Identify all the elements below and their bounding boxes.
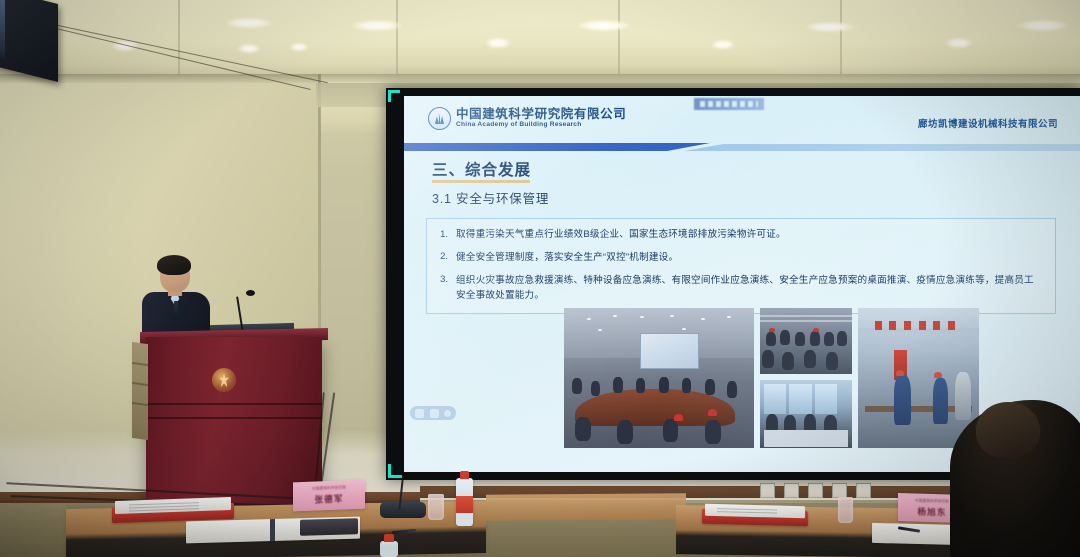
microphone-capsule-icon <box>246 290 255 296</box>
foreground-table-center <box>486 493 686 520</box>
slide-header-divider <box>404 143 1080 151</box>
microphone-base-left <box>380 502 426 518</box>
bullet-item: 1. 取得重污染天气重点行业绩效B级企业、国家生态环境部排放污染物许可证。 <box>435 228 1043 243</box>
ceiling-light <box>352 20 402 31</box>
bottle-label <box>456 496 473 512</box>
bullet-text: 组织火灾事故应急救援演练、特种设备应急演练、有限空间作业应急演练、安全生产应急预… <box>456 274 1043 304</box>
bullet-text: 健全安全管理制度，落实安全生产“双控”机制建设。 <box>456 251 678 266</box>
slide-subsection-title: 3.1 安全与环保管理 <box>432 188 549 207</box>
slide-title-underline <box>432 180 530 183</box>
ceiling-light <box>806 22 854 32</box>
bottle-cap-icon <box>460 471 470 479</box>
ceiling-light <box>238 44 260 53</box>
more-icon[interactable] <box>444 410 451 417</box>
ceiling-light <box>1018 20 1068 31</box>
photo-meeting-by-windows <box>760 380 852 448</box>
photo-workshop-training <box>760 308 852 374</box>
bullet-text: 取得重污染天气重点行业绩效B级企业、国家生态环境部排放污染物许可证。 <box>456 228 786 243</box>
screenshot-stage: 中国建筑科学研究院有限公司 China Academy of Building … <box>0 0 1080 557</box>
ceiling-light <box>712 40 734 49</box>
glass-left <box>428 494 444 520</box>
placard-org-line: 中国建筑科学研究院 <box>312 485 346 491</box>
slide-toolbar[interactable] <box>410 406 456 420</box>
bullet-number: 1. <box>435 228 448 243</box>
water-bottle-left <box>456 478 473 526</box>
name-placard-left: 中国建筑科学研究院 张德军 <box>293 480 365 512</box>
ceiling-speaker-icon <box>0 0 58 82</box>
slide-bullet-box: 1. 取得重污染天气重点行业绩效B级企业、国家生态环境部排放污染物许可证。 2.… <box>426 218 1056 314</box>
wall-outlets <box>760 482 910 498</box>
bullet-number: 3. <box>435 274 448 304</box>
podium-side-shelf <box>132 342 148 440</box>
ceiling-light <box>578 20 630 31</box>
ceiling-panels <box>0 0 1080 74</box>
top-meeting-badge <box>694 98 764 110</box>
red-folder-right <box>702 509 808 527</box>
photo-factory-aisle-drill <box>858 308 979 448</box>
placard-org-line: 中国建筑科学研究院 <box>915 498 949 504</box>
bottle-cap-icon <box>384 534 394 542</box>
bullet-number: 2. <box>435 251 448 266</box>
ceiling-light <box>226 18 272 28</box>
ceiling-light <box>486 38 510 48</box>
placard-name: 杨旭东 <box>917 505 946 518</box>
seated-attendee <box>950 400 1080 557</box>
org-name-en: China Academy of Building Research <box>456 121 626 128</box>
org-name-cn: 中国建筑科学研究院有限公司 <box>456 108 626 121</box>
slide-photo-collage <box>564 308 979 448</box>
cabr-logo-icon <box>428 107 451 130</box>
notes-icon[interactable] <box>430 409 439 418</box>
bullet-item: 3. 组织火灾事故应急救援演练、特种设备应急演练、有限空间作业应急演练、安全生产… <box>435 274 1043 304</box>
photo-conference-room-meeting <box>564 308 754 448</box>
ceiling-light <box>290 43 308 51</box>
podium-emblem-icon <box>212 368 236 392</box>
slide-section-title: 三、综合发展 <box>432 158 531 180</box>
partner-company-name: 廊坊凯博建设机械科技有限公司 <box>918 116 1058 130</box>
placard-name: 张德军 <box>314 492 343 505</box>
phone-on-table <box>300 518 358 536</box>
presenter-view-icon[interactable] <box>415 409 424 418</box>
water-bottle-foreground <box>380 541 398 557</box>
attendee-head <box>976 402 1040 458</box>
glass-right <box>838 497 853 523</box>
ceiling-light <box>946 38 972 48</box>
cabr-logo: 中国建筑科学研究院有限公司 China Academy of Building … <box>428 107 626 130</box>
ceiling-shadow <box>0 74 1080 83</box>
bullet-item: 2. 健全安全管理制度，落实安全生产“双控”机制建设。 <box>435 251 1043 266</box>
